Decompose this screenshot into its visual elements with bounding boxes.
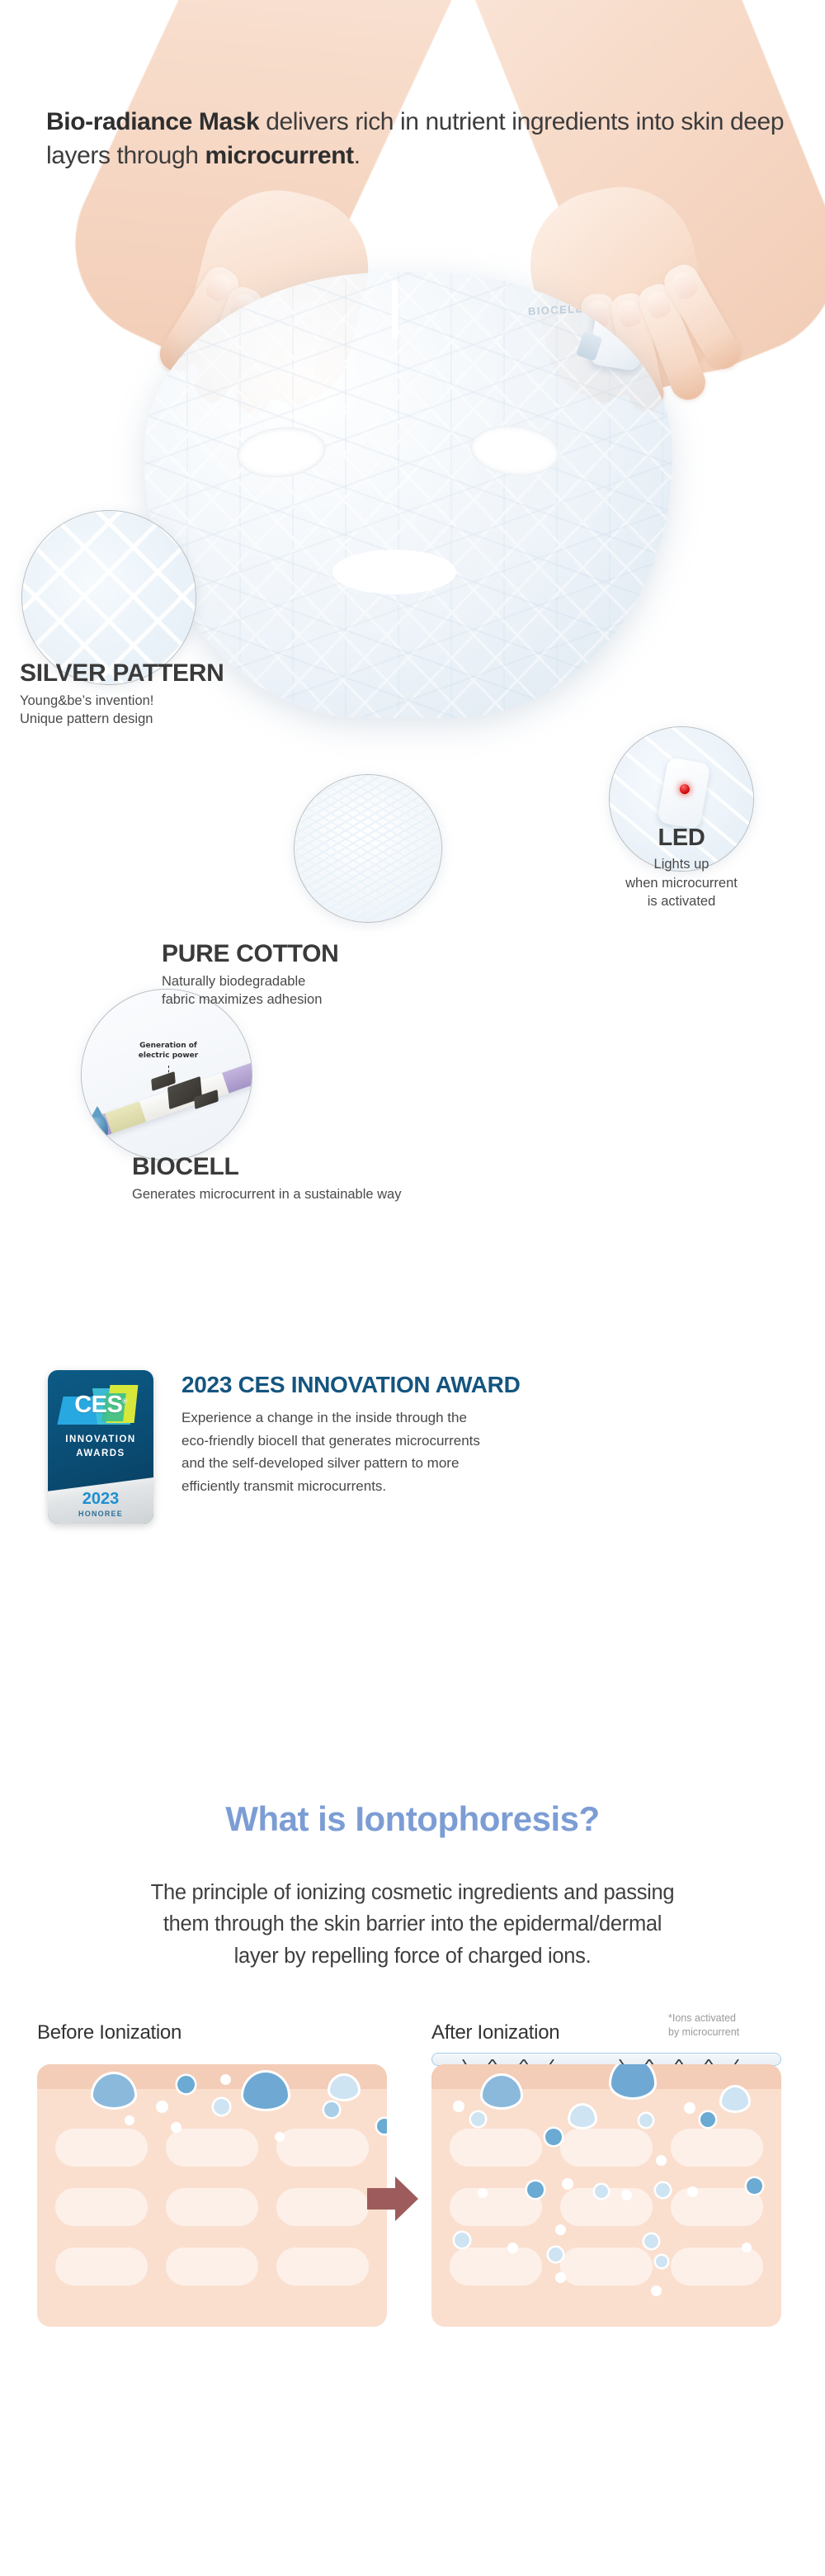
- led-indicator-light-closeup: [679, 783, 691, 795]
- award-text-block: 2023 CES INNOVATION AWARD Experience a c…: [181, 1370, 521, 1497]
- ces-logo-icon: CES®: [57, 1383, 144, 1426]
- callout-pure-cotton: PURE COTTON Naturally biodegradable fabr…: [162, 941, 339, 1009]
- magnifier-biocell: Generation of electric power: [81, 989, 252, 1160]
- ion-particle: [545, 2129, 562, 2145]
- ion-particle: [700, 2112, 715, 2127]
- face-mask-image: BIOCELL: [144, 272, 672, 718]
- skin-cell: [560, 2248, 653, 2285]
- iono-desc-line3: layer by repelling force of charged ions…: [234, 1945, 592, 1968]
- skin-cell: [450, 2248, 542, 2285]
- ingredient-droplet: [611, 2064, 654, 2097]
- ion-particle: [549, 2248, 563, 2262]
- ces-badge-year: 2023: [48, 1491, 153, 1507]
- ion-particle: [595, 2185, 608, 2198]
- ions-note-line2: by microcurrent: [668, 2026, 739, 2038]
- led-desc-line3: is activated: [648, 894, 716, 909]
- after-ionization-label: After Ionization: [431, 2021, 559, 2044]
- biocell-diagram-label: Generation of electric power: [120, 1041, 217, 1061]
- ion-particle: [639, 2114, 653, 2127]
- biocell-label-line1: Generation of: [139, 1042, 197, 1050]
- skin-surface-layer-after: [431, 2064, 781, 2089]
- ion-particle: [453, 2101, 464, 2112]
- ces-badge-top: CES® INNOVATION AWARDS: [48, 1370, 153, 1479]
- ion-particle: [644, 2234, 658, 2248]
- led-title: LED: [601, 825, 762, 850]
- skin-cell: [55, 2248, 148, 2285]
- skin-cell: [166, 2188, 258, 2226]
- ion-particle: [684, 2102, 695, 2114]
- ions-activated-note: *Ions activated by microcurrent: [668, 2011, 792, 2040]
- ion-particle: [651, 2285, 662, 2296]
- skin-cell: [671, 2188, 763, 2226]
- ion-particle: [507, 2243, 518, 2253]
- skin-cell: [166, 2248, 258, 2285]
- ion-particle: [275, 2132, 285, 2142]
- headline-microcurrent: microcurrent: [205, 142, 353, 169]
- ion-particle: [171, 2122, 181, 2133]
- ion-particle: [324, 2102, 339, 2117]
- biocell-diagram: Generation of electric power: [82, 990, 252, 1160]
- ion-particle: [478, 2188, 488, 2198]
- ion-particle: [621, 2190, 632, 2200]
- magnifier-pure-cotton: [294, 774, 442, 923]
- ion-particle: [555, 2224, 566, 2235]
- silver-pattern-title: SILVER PATTERN: [20, 660, 224, 687]
- led-indicator-light: [616, 320, 625, 328]
- skin-panel-before: [37, 2064, 387, 2327]
- ion-particle: [687, 2186, 698, 2197]
- ion-particle: [471, 2112, 485, 2126]
- biocell-segment-purple-right: [222, 1057, 252, 1093]
- ion-particle: [555, 2272, 566, 2283]
- award-body-line3: and the self-developed silver pattern to…: [181, 1455, 459, 1471]
- ion-particle: [455, 2233, 469, 2248]
- ingredient-droplet: [722, 2087, 748, 2110]
- award-body-line2: eco-friendly biocell that generates micr…: [181, 1433, 480, 1449]
- skin-cell: [276, 2188, 369, 2226]
- silver-pattern-description: Young&be’s invention! Unique pattern des…: [20, 692, 224, 728]
- ces-badge-line1: INNOVATION: [65, 1435, 136, 1444]
- mask-forehead-slit: [392, 281, 398, 340]
- ion-particle: [214, 2099, 229, 2115]
- pure-cotton-desc-line1: Naturally biodegradable: [162, 974, 305, 989]
- silver-pattern-desc-line1: Young&be’s invention!: [20, 693, 153, 708]
- skin-cells-after: [450, 2129, 763, 2285]
- ionization-comparison-diagram: Before Ionization After Ionization *Ions…: [0, 2021, 825, 2409]
- iontophoresis-description: The principle of ionizing cosmetic ingre…: [0, 1877, 825, 1972]
- ces-logo-text: CES®: [57, 1392, 144, 1419]
- hero-section: BIOCELL Bio-radiance Mask delivers rich …: [0, 0, 825, 1288]
- ces-badge-line2: AWARDS: [76, 1449, 125, 1458]
- led-desc-line2: when microcurrent: [625, 876, 738, 891]
- led-description: Lights up when microcurrent is activated: [601, 855, 762, 910]
- pure-cotton-description: Naturally biodegradable fabric maximizes…: [162, 972, 339, 1009]
- award-body: Experience a change in the inside throug…: [181, 1406, 521, 1497]
- pure-cotton-title: PURE COTTON: [162, 941, 339, 967]
- product-infographic-page: BIOCELL Bio-radiance Mask delivers rich …: [0, 0, 825, 2576]
- skin-panel-after: [431, 2064, 781, 2327]
- pure-cotton-desc-line2: fabric maximizes adhesion: [162, 992, 322, 1007]
- ion-particle: [656, 2256, 667, 2267]
- biocell-segment-yellow: [105, 1101, 146, 1133]
- skin-cell: [560, 2129, 653, 2167]
- ion-particle: [747, 2178, 762, 2194]
- skin-cell: [671, 2129, 763, 2167]
- ces-award-section: CES® INNOVATION AWARDS 2023 HONOREE 2023…: [0, 1370, 825, 1524]
- biocell-label-line2: electric power: [139, 1052, 198, 1060]
- transition-arrow-icon: [367, 2177, 418, 2221]
- ces-badge-honoree: HONOREE: [48, 1510, 153, 1518]
- iontophoresis-section: What is Iontophoresis? The principle of …: [0, 1799, 825, 2409]
- iono-desc-line2: them through the skin barrier into the e…: [163, 1912, 662, 1936]
- mask-mouth-hole: [332, 550, 456, 594]
- ces-award-badge: CES® INNOVATION AWARDS 2023 HONOREE: [48, 1370, 153, 1524]
- award-body-line1: Experience a change in the inside throug…: [181, 1410, 467, 1425]
- ion-particle: [377, 2119, 387, 2134]
- headline-product-name: Bio-radiance Mask: [46, 108, 259, 135]
- skin-cell: [55, 2188, 148, 2226]
- ion-particle: [220, 2074, 231, 2085]
- ions-note-line1: *Ions activated: [668, 2012, 736, 2024]
- award-title: 2023 CES INNOVATION AWARD: [181, 1372, 521, 1398]
- callout-silver-pattern: SILVER PATTERN Young&be’s invention! Uni…: [20, 660, 224, 728]
- ion-particle: [125, 2115, 134, 2125]
- skin-cell: [276, 2248, 369, 2285]
- biocell-water-droplet: [87, 1113, 108, 1141]
- skin-cell: [166, 2129, 258, 2167]
- ion-particle: [656, 2183, 670, 2197]
- iono-desc-line1: The principle of ionizing cosmetic ingre…: [151, 1881, 675, 1904]
- before-ionization-label: Before Ionization: [37, 2021, 181, 2044]
- ion-particle: [656, 2155, 667, 2166]
- skin-cells-before: [55, 2129, 369, 2285]
- iontophoresis-title: What is Iontophoresis?: [0, 1799, 825, 1839]
- skin-cell: [276, 2129, 369, 2167]
- registered-trademark-icon: ®: [122, 1397, 126, 1405]
- ces-badge-bottom: 2023 HONOREE: [48, 1477, 153, 1524]
- biocell-description: Generates microcurrent in a sustainable …: [132, 1185, 402, 1203]
- ion-particle: [527, 2181, 544, 2198]
- hero-headline: Bio-radiance Mask delivers rich in nutri…: [46, 106, 825, 173]
- skin-cell: [55, 2129, 148, 2167]
- silver-pattern-desc-line2: Unique pattern design: [20, 711, 153, 726]
- ion-particle: [156, 2101, 168, 2113]
- callout-led: LED Lights up when microcurrent is activ…: [601, 825, 762, 910]
- biocell-title: BIOCELL: [132, 1154, 402, 1180]
- skin-cell: [671, 2248, 763, 2285]
- award-body-line4: efficiently transmit microcurrents.: [181, 1478, 386, 1494]
- led-desc-line1: Lights up: [654, 857, 709, 872]
- headline-text-2: .: [354, 142, 361, 169]
- led-device-closeup: [658, 757, 711, 830]
- mask-body: BIOCELL: [144, 272, 672, 718]
- cotton-fabric-closeup: [295, 775, 441, 922]
- ingredient-droplet: [570, 2106, 595, 2127]
- skin-cell: [450, 2129, 542, 2167]
- ion-particle: [742, 2243, 752, 2252]
- callout-biocell: BIOCELL Generates microcurrent in a sust…: [132, 1154, 402, 1203]
- ion-particle: [177, 2076, 195, 2093]
- silver-pattern-closeup: [22, 511, 196, 684]
- ces-innovation-awards-text: INNOVATION AWARDS: [48, 1433, 153, 1462]
- ion-particle: [562, 2178, 573, 2190]
